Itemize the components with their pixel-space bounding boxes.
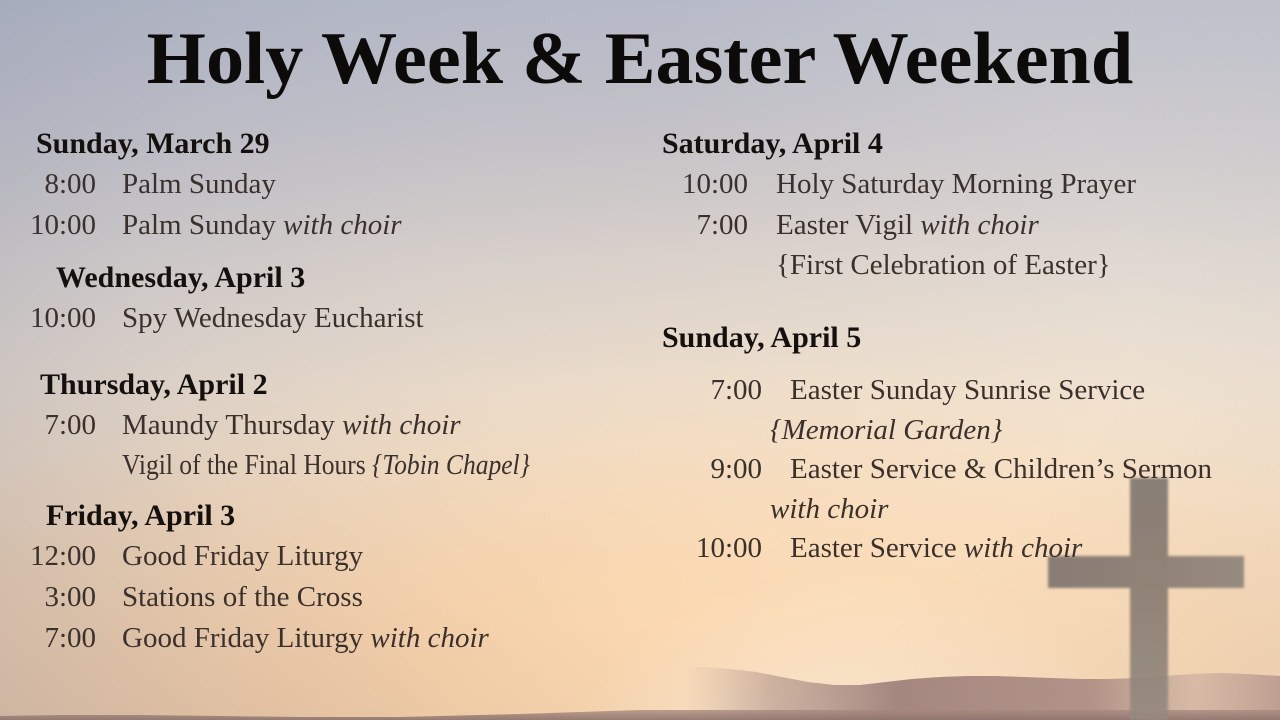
event-subline: {First Celebration of Easter} bbox=[662, 246, 1280, 284]
schedule-column-right: Saturday, April 4 10:00 Holy Saturday Mo… bbox=[662, 124, 1280, 569]
event-description: Stations of the Cross bbox=[122, 577, 363, 618]
event-row: 7:00 Easter Sunday Sunrise Service bbox=[662, 370, 1280, 411]
event-description: Palm Sunday with choir bbox=[122, 205, 402, 246]
event-time: 10:00 bbox=[8, 298, 96, 339]
schedule-column-left: Sunday, March 29 8:00 Palm Sunday 10:00 … bbox=[8, 124, 648, 659]
event-row: 8:00 Palm Sunday bbox=[8, 164, 648, 205]
event-subline-text: Vigil of the Final Hours {Tobin Chapel} bbox=[122, 446, 530, 484]
day-heading: Sunday, April 5 bbox=[662, 318, 1280, 358]
event-note: with choir bbox=[370, 622, 488, 654]
event-description: Good Friday Liturgy bbox=[122, 536, 363, 577]
event-description: Easter Sunday Sunrise Service bbox=[790, 370, 1145, 411]
day-heading: Thursday, April 2 bbox=[8, 365, 648, 405]
event-note: with choir bbox=[342, 409, 460, 441]
day-block-sunday-march-29: Sunday, March 29 8:00 Palm Sunday 10:00 … bbox=[8, 124, 648, 246]
event-row: 10:00 Spy Wednesday Eucharist bbox=[8, 298, 648, 339]
spacer bbox=[8, 339, 648, 365]
event-note: with choir bbox=[920, 209, 1038, 241]
spacer bbox=[8, 246, 648, 258]
event-description: Maundy Thursday with choir bbox=[122, 405, 461, 446]
event-note: with choir bbox=[283, 209, 401, 241]
event-row: 9:00 Easter Service & Children’s Sermon bbox=[662, 449, 1280, 490]
spacer bbox=[662, 284, 1280, 318]
event-description: Good Friday Liturgy with choir bbox=[122, 618, 489, 659]
event-description: Spy Wednesday Eucharist bbox=[122, 298, 424, 339]
event-time: 10:00 bbox=[8, 205, 96, 246]
event-description: Palm Sunday bbox=[122, 164, 276, 205]
event-row: 12:00 Good Friday Liturgy bbox=[8, 536, 648, 577]
event-subline: Vigil of the Final Hours {Tobin Chapel} bbox=[8, 446, 648, 484]
spacer bbox=[8, 484, 648, 496]
day-block-friday-april-3: Friday, April 3 12:00 Good Friday Liturg… bbox=[8, 496, 648, 659]
day-block-wednesday-april-3: Wednesday, April 3 10:00 Spy Wednesday E… bbox=[8, 258, 648, 339]
event-row: 10:00 Easter Service with choir bbox=[662, 528, 1280, 569]
event-time: 9:00 bbox=[676, 449, 762, 490]
day-heading: Saturday, April 4 bbox=[662, 124, 1280, 164]
event-time: 10:00 bbox=[662, 164, 748, 205]
day-heading: Wednesday, April 3 bbox=[8, 258, 648, 298]
day-heading: Sunday, March 29 bbox=[8, 124, 648, 164]
day-block-thursday-april-2: Thursday, April 2 7:00 Maundy Thursday w… bbox=[8, 365, 648, 484]
page-title: Holy Week & Easter Weekend bbox=[0, 22, 1280, 96]
day-block-sunday-april-5: Sunday, April 5 7:00 Easter Sunday Sunri… bbox=[662, 318, 1280, 569]
event-row: 3:00 Stations of the Cross bbox=[8, 577, 648, 618]
event-description: Easter Service with choir bbox=[790, 528, 1082, 569]
slide-canvas: Holy Week & Easter Weekend Sunday, March… bbox=[0, 0, 1280, 720]
event-time: 8:00 bbox=[8, 164, 96, 205]
event-subline-text: {Memorial Garden} bbox=[770, 414, 1002, 446]
event-row: 7:00 Good Friday Liturgy with choir bbox=[8, 618, 648, 659]
event-time: 7:00 bbox=[662, 205, 748, 246]
day-block-saturday-april-4: Saturday, April 4 10:00 Holy Saturday Mo… bbox=[662, 124, 1280, 284]
event-subline-text: with choir bbox=[770, 493, 888, 525]
event-row: 7:00 Maundy Thursday with choir bbox=[8, 405, 648, 446]
event-time: 7:00 bbox=[676, 370, 762, 411]
event-time: 7:00 bbox=[8, 405, 96, 446]
event-description: Easter Vigil with choir bbox=[776, 205, 1039, 246]
event-description: Holy Saturday Morning Prayer bbox=[776, 164, 1136, 205]
event-row: 10:00 Palm Sunday with choir bbox=[8, 205, 648, 246]
event-row: 7:00 Easter Vigil with choir bbox=[662, 205, 1280, 246]
event-time: 7:00 bbox=[8, 618, 96, 659]
event-time: 10:00 bbox=[676, 528, 762, 569]
day-heading: Friday, April 3 bbox=[8, 496, 648, 536]
spacer bbox=[662, 358, 1280, 370]
event-note: with choir bbox=[964, 532, 1082, 564]
event-description: Easter Service & Children’s Sermon bbox=[790, 449, 1212, 490]
event-time: 12:00 bbox=[8, 536, 96, 577]
event-subline-note: {Tobin Chapel} bbox=[372, 449, 530, 481]
event-time: 3:00 bbox=[8, 577, 96, 618]
event-row: 10:00 Holy Saturday Morning Prayer bbox=[662, 164, 1280, 205]
event-subline: {Memorial Garden} bbox=[662, 411, 1280, 449]
event-subline: with choir bbox=[662, 490, 1280, 528]
